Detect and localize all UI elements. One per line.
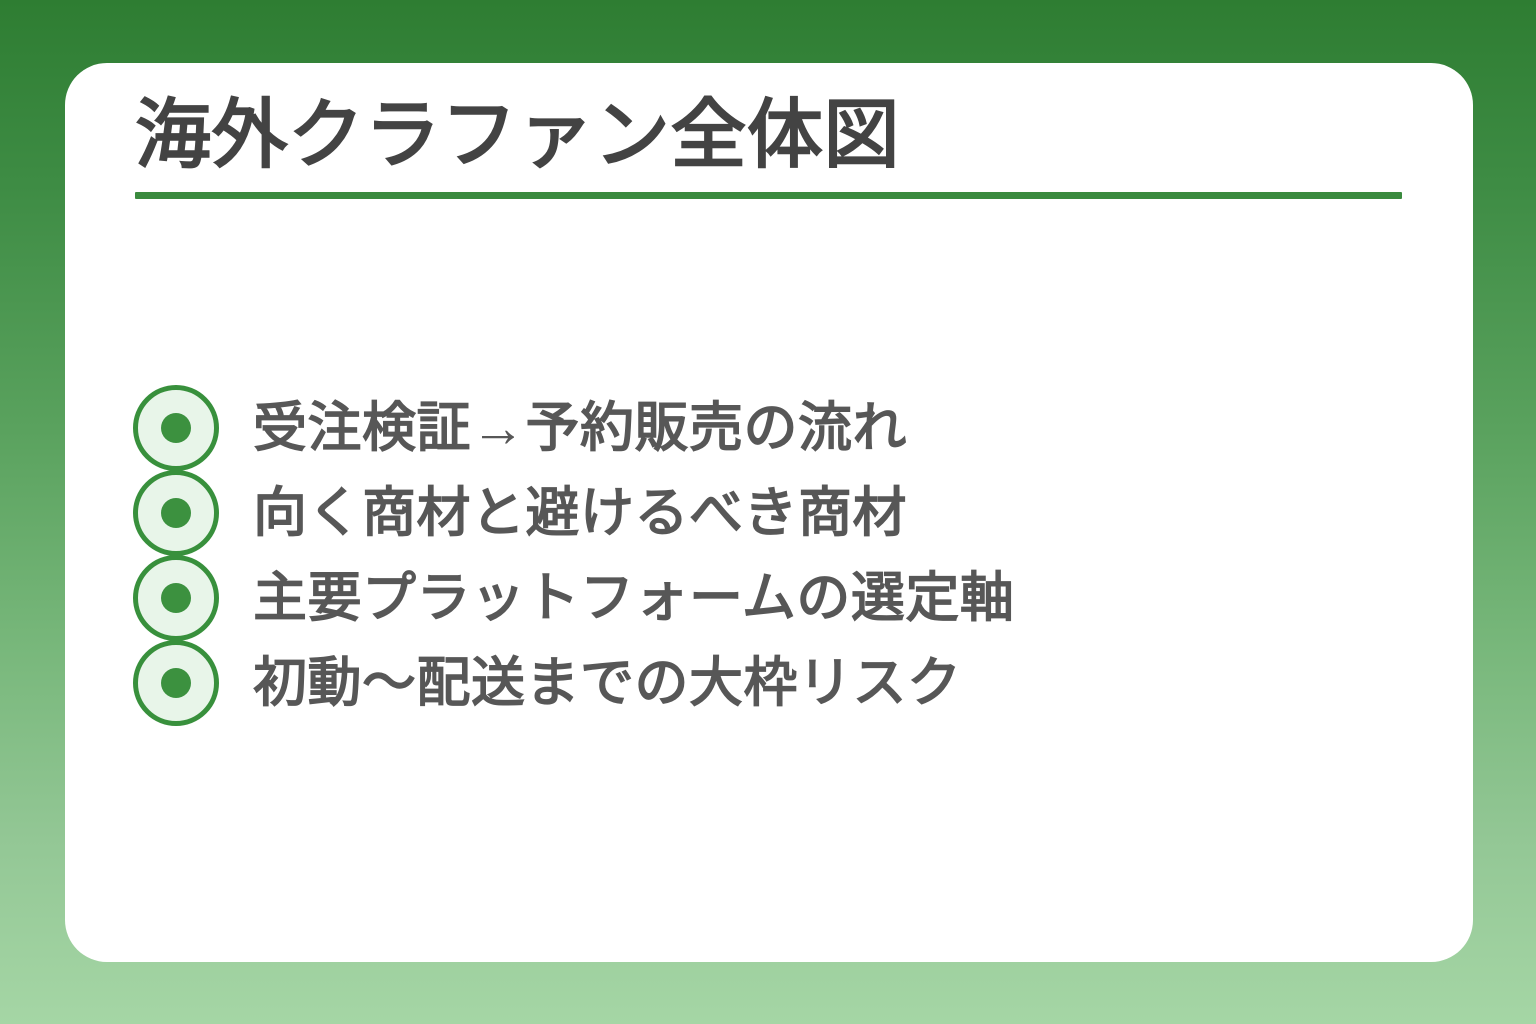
filled-circle-bullet-icon xyxy=(133,385,219,471)
title-block: 海外クラファン全体図 xyxy=(135,93,1403,199)
slide-background: 海外クラファン全体図 受注検証→予約販売の流れ 向く商材と避けるべき商材 主要プ… xyxy=(0,0,1536,1024)
filled-circle-bullet-icon xyxy=(133,640,219,726)
list-item: 受注検証→予約販売の流れ xyxy=(133,385,1433,471)
list-item: 向く商材と避けるべき商材 xyxy=(133,470,1433,556)
list-item: 主要プラットフォームの選定軸 xyxy=(133,555,1433,641)
page-title: 海外クラファン全体図 xyxy=(135,93,1403,178)
bullet-list: 受注検証→予約販売の流れ 向く商材と避けるべき商材 主要プラットフォームの選定軸… xyxy=(133,385,1433,725)
filled-circle-bullet-icon xyxy=(133,470,219,556)
list-item: 初動〜配送までの大枠リスク xyxy=(133,640,1433,726)
content-card: 海外クラファン全体図 受注検証→予約販売の流れ 向く商材と避けるべき商材 主要プ… xyxy=(65,63,1473,962)
bullet-label: 主要プラットフォームの選定軸 xyxy=(253,570,1014,627)
bullet-label: 受注検証→予約販売の流れ xyxy=(253,400,907,457)
bullet-label: 向く商材と避けるべき商材 xyxy=(253,485,907,542)
bullet-label: 初動〜配送までの大枠リスク xyxy=(253,655,962,712)
title-underline-rule xyxy=(135,192,1402,199)
filled-circle-bullet-icon xyxy=(133,555,219,641)
